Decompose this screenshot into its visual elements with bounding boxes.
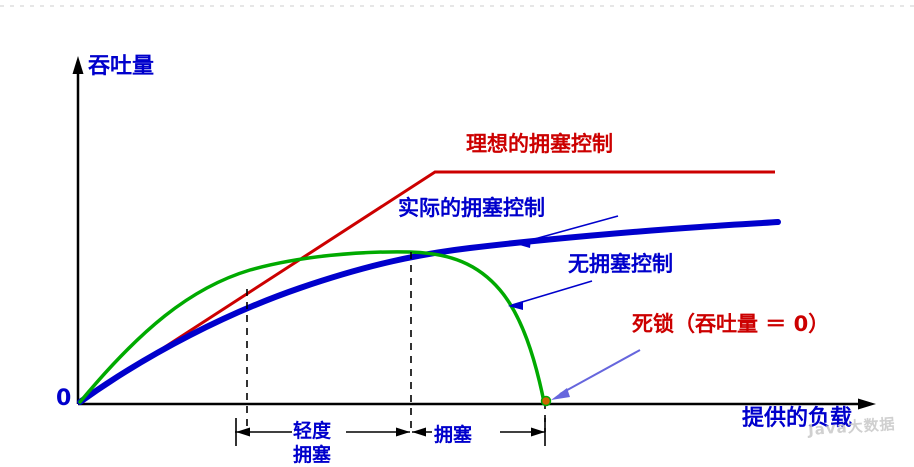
series-none-line: [80, 252, 544, 402]
region-congestion-arrow-left-head: [412, 428, 426, 437]
legend-ideal-label: 理想的拥塞控制: [466, 128, 613, 158]
legend-actual-label: 实际的拥塞控制: [398, 192, 545, 222]
region-congestion-arrow-right-head: [531, 428, 545, 437]
y-axis-label: 吞吐量: [88, 48, 154, 80]
region-light-label-line1: 轻度: [293, 416, 331, 443]
annotation-deadlock-label: 死锁（吞吐量 ＝ 0）: [632, 308, 829, 338]
legend-none-label: 无拥塞控制: [568, 248, 673, 278]
chart-canvas: 吞吐量 0 提供的负载 理想的拥塞控制 实际的拥塞控制 无拥塞控制 死锁（吞吐量…: [0, 0, 914, 467]
origin-label: 0: [56, 386, 71, 411]
deadlock-point-marker: [542, 397, 551, 406]
region-light-label-line2: 拥塞: [293, 440, 331, 467]
leader-none: [512, 281, 592, 305]
region-light-arrow-right-head: [396, 428, 410, 437]
region-light-arrow-left-head: [236, 428, 250, 437]
leader-deadlock: [560, 350, 640, 394]
leader-deadlock-head: [551, 388, 570, 400]
y-axis-arrow: [73, 56, 84, 74]
x-axis-arrow: [858, 399, 876, 410]
region-congestion-label: 拥塞: [434, 420, 472, 447]
